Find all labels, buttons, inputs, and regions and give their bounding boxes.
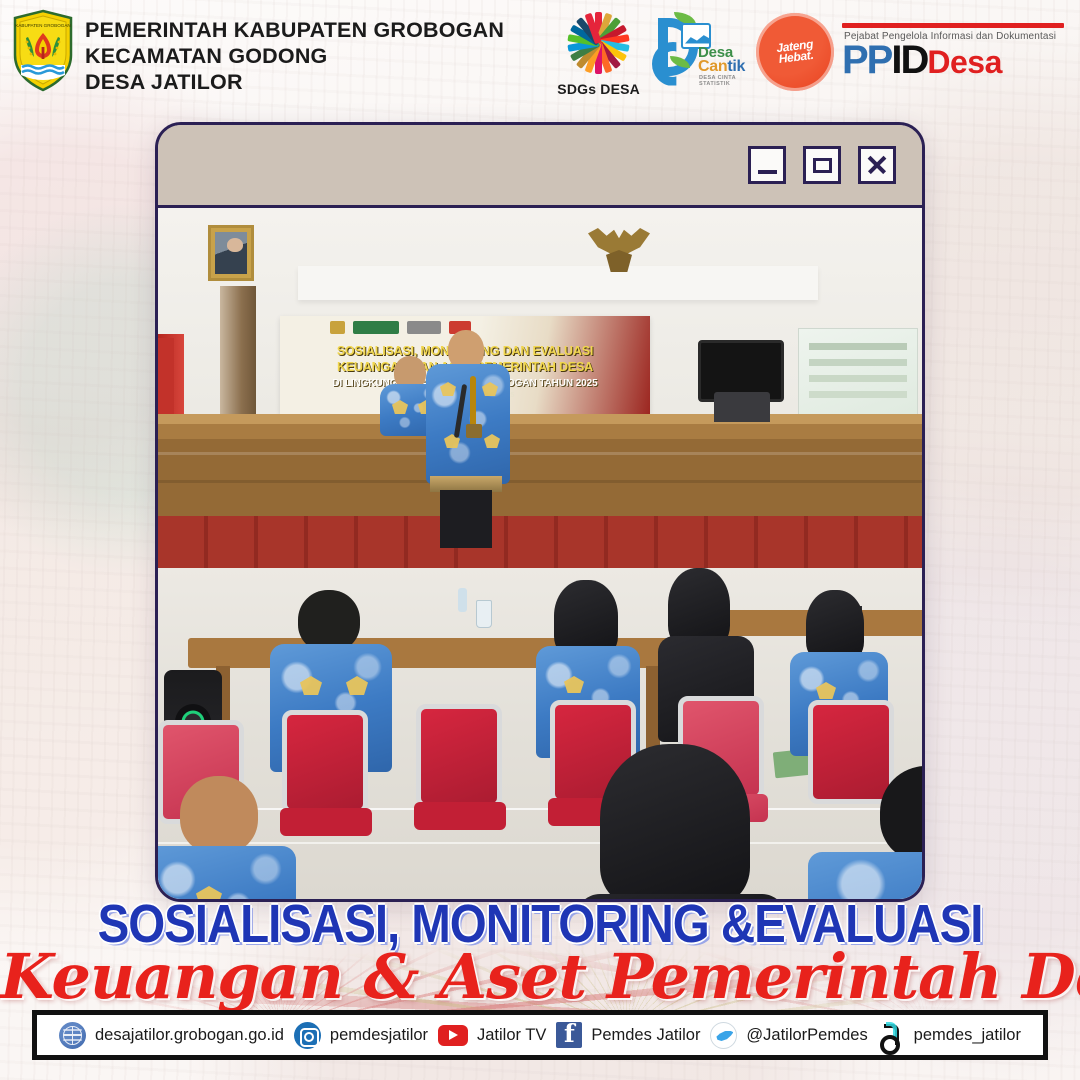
chair (282, 710, 368, 814)
social-label-facebook: Pemdes Jatilor (591, 1026, 700, 1045)
chair (808, 700, 894, 804)
desa-cantik-logo: Desa Cantik DESA CINTA STATISTIK (648, 12, 748, 92)
ppid-id-text: ID (891, 38, 927, 82)
instagram-icon (294, 1022, 321, 1049)
jateng-hebat-logo: JatengHebat. (756, 13, 834, 91)
social-item-twitter[interactable]: @JatilorPemdes (710, 1022, 867, 1049)
page-header: KABUPATEN GROBOGAN PEMERINTAH KABUPATEN … (0, 0, 1080, 112)
globe-icon (59, 1022, 86, 1049)
header-line-2: KECAMATAN GODONG (85, 43, 504, 69)
drinking-glass (476, 600, 492, 628)
desa-cantik-tagline: DESA CINTA STATISTIK (699, 75, 748, 87)
social-item-youtube[interactable]: Jatilor TV (438, 1025, 546, 1046)
sdgs-desa-label: SDGs DESA (557, 81, 640, 97)
close-button[interactable] (858, 146, 896, 184)
desa-cantik-label-bottom: Cantik (698, 58, 745, 76)
social-item-tiktok[interactable]: pemdes_jatilor (878, 1022, 1021, 1049)
banner-logos (330, 321, 471, 334)
ppid-pp-text: PP (842, 38, 891, 82)
close-icon (866, 154, 888, 176)
social-media-bar: desajatilor.grobogan.go.id pemdesjatilor… (32, 1010, 1048, 1060)
svg-text:KABUPATEN GROBOGAN: KABUPATEN GROBOGAN (15, 23, 70, 28)
header-line-1: PEMERINTAH KABUPATEN GROBOGAN (85, 17, 504, 43)
header-line-3: DESA JATILOR (85, 69, 504, 95)
sdgs-desa-logo: SDGs DESA (557, 6, 640, 97)
ppid-desa-logo: Pejabat Pengelola Informasi dan Dokument… (842, 21, 1064, 82)
tiktok-icon (878, 1022, 905, 1049)
jateng-hebat-label: JatengHebat. (775, 38, 814, 64)
maximize-icon (813, 158, 832, 173)
social-item-facebook[interactable]: Pemdes Jatilor (556, 1022, 700, 1048)
social-item-instagram[interactable]: pemdesjatilor (294, 1022, 428, 1049)
event-photo: SOSIALISASI, MONITORING DAN EVALUASI KEU… (158, 208, 922, 902)
window-titlebar (158, 125, 922, 208)
window-card: SOSIALISASI, MONITORING DAN EVALUASI KEU… (155, 122, 925, 902)
twitter-icon (710, 1022, 737, 1049)
minimize-icon (758, 170, 777, 174)
chair (416, 704, 502, 808)
page-subtitle: Keuangan & Aset Pemerintah Desa (0, 940, 1080, 1013)
garuda-emblem-icon (588, 220, 650, 278)
sdgs-wheel-icon (562, 6, 636, 80)
social-label-twitter: @JatilorPemdes (746, 1026, 867, 1045)
social-label-tiktok: pemdes_jatilor (914, 1026, 1021, 1045)
wall-portrait (208, 225, 254, 281)
social-label-instagram: pemdesjatilor (330, 1026, 428, 1045)
social-item-website[interactable]: desajatilor.grobogan.go.id (59, 1022, 284, 1049)
minimize-button[interactable] (748, 146, 786, 184)
ppid-red-bar (842, 23, 1064, 28)
laptop (714, 392, 770, 422)
ppid-desa-text: Desa (927, 44, 1002, 80)
header-title-block: PEMERINTAH KABUPATEN GROBOGAN KECAMATAN … (85, 17, 504, 95)
maximize-button[interactable] (803, 146, 841, 184)
facebook-icon (556, 1022, 582, 1048)
social-label-website: desajatilor.grobogan.go.id (95, 1026, 284, 1045)
partner-logo-row: SDGs DESA Desa Cantik DESA CINTA STATIST… (557, 0, 1080, 97)
grobogan-crest-icon: KABUPATEN GROBOGAN (12, 9, 74, 98)
youtube-icon (438, 1025, 468, 1046)
social-label-youtube: Jatilor TV (477, 1026, 546, 1045)
ppid-wordmark: PPIDDesa (842, 40, 1064, 82)
